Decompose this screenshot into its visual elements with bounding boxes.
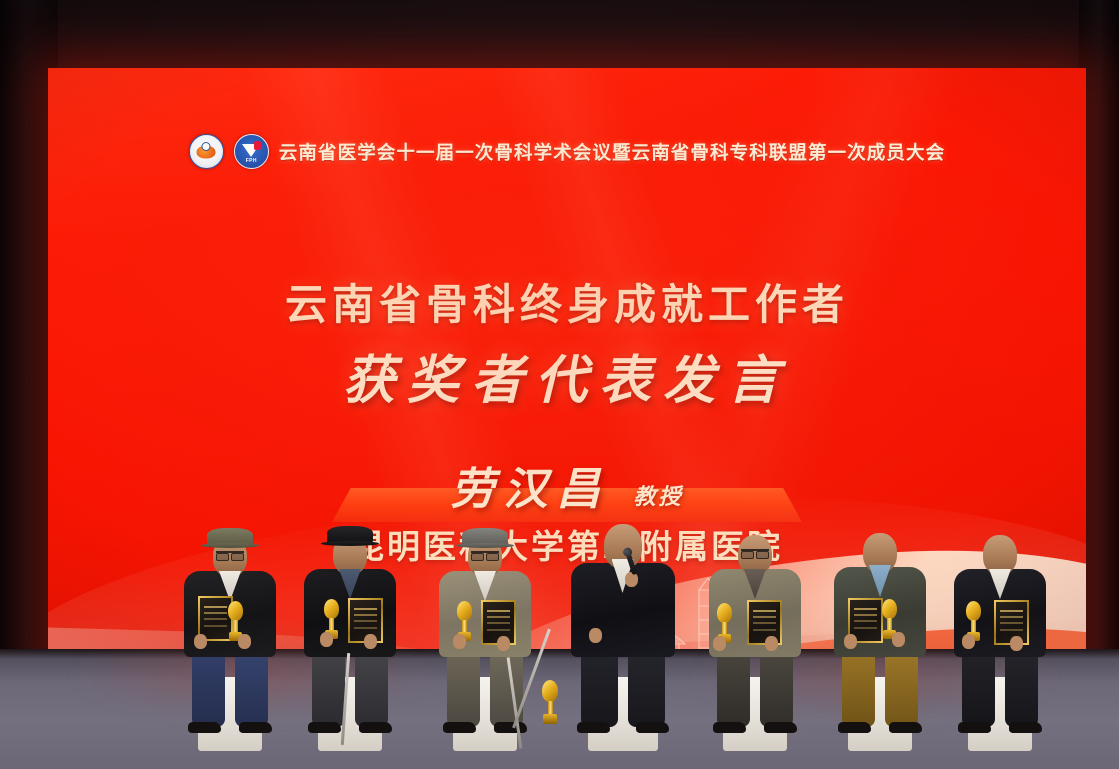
trophy-cup	[228, 601, 243, 621]
leg-right	[885, 649, 918, 727]
glasses-icon	[471, 551, 499, 559]
trophy-cup	[542, 680, 558, 702]
newsboy-cap-icon	[327, 526, 373, 543]
shoe-right	[1009, 722, 1042, 733]
fedora-hat-icon	[462, 528, 508, 545]
trophy-base	[543, 714, 557, 724]
shoe-left	[838, 722, 871, 733]
conference-title: 云南省医学会十一届一次骨科学术会议暨云南省骨科专科联盟第一次成员大会	[279, 139, 945, 165]
leg-right	[355, 649, 388, 727]
leg-left	[842, 649, 875, 727]
hand-left	[320, 632, 333, 647]
hand-resting	[589, 628, 602, 643]
leg-left	[717, 649, 750, 727]
shoe-left	[713, 722, 746, 733]
trophy-cup	[882, 599, 897, 619]
hand-holding-microphone	[625, 572, 638, 587]
shoe-right	[889, 722, 922, 733]
trophy-stem	[329, 618, 334, 630]
trophy-stem	[887, 618, 892, 630]
hand-left	[962, 634, 975, 649]
hand-left	[194, 634, 207, 649]
trophy-cup	[966, 601, 981, 621]
hand-right	[1010, 636, 1023, 651]
trophy-stem	[722, 622, 727, 634]
hand-right	[892, 632, 905, 647]
stage-photo: FPH 云南省医学会十一届一次骨科学术会议暨云南省骨科专科联盟第一次成员大会 云…	[0, 0, 1119, 769]
hand-left	[453, 634, 466, 649]
conference-header: FPH 云南省医学会十一届一次骨科学术会议暨云南省骨科专科联盟第一次成员大会	[48, 134, 1086, 169]
stage-floor	[0, 649, 1119, 769]
hand-right	[364, 634, 377, 649]
floor-gold-trophy	[542, 680, 558, 724]
hand-right	[497, 636, 510, 651]
flat-cap-icon	[207, 528, 253, 545]
fph-hospital-logo: FPH	[234, 134, 269, 169]
shoe-right	[239, 722, 272, 733]
leg-left	[312, 649, 345, 727]
shoe-right	[359, 722, 392, 733]
shoe-left	[577, 722, 610, 733]
shoe-right	[494, 722, 527, 733]
shoe-left	[958, 722, 991, 733]
leg-right	[760, 649, 793, 727]
leg-right	[628, 649, 665, 727]
shoe-left	[188, 722, 221, 733]
hand-right	[238, 634, 251, 649]
trophy-cup	[457, 601, 472, 621]
leg-right	[235, 649, 268, 727]
shoe-right	[764, 722, 797, 733]
glasses-icon	[741, 549, 769, 557]
award-category-title: 云南省骨科终身成就工作者	[48, 271, 1086, 332]
leg-left	[447, 649, 480, 727]
trophy-stem	[462, 620, 467, 632]
fph-label: FPH	[235, 158, 268, 164]
chinese-medical-association-logo	[189, 134, 224, 169]
shoe-left	[308, 722, 341, 733]
leg-right	[1005, 649, 1038, 727]
shoe-left	[443, 722, 476, 733]
shoe-right	[636, 722, 669, 733]
hand-left	[844, 634, 857, 649]
segment-subtitle: 获奖者代表发言	[48, 338, 1086, 413]
trophy-cup	[324, 599, 339, 619]
hand-left	[713, 636, 726, 651]
trophy-cup	[717, 603, 732, 623]
hand-right	[765, 636, 778, 651]
glasses-icon	[216, 551, 244, 559]
leg-left	[962, 649, 995, 727]
leg-left	[192, 649, 225, 727]
p-mark-icon	[254, 141, 262, 150]
trophy-stem	[233, 620, 238, 632]
trophy-stem	[548, 701, 553, 714]
trophy-stem	[971, 620, 976, 632]
leg-left	[581, 649, 618, 727]
